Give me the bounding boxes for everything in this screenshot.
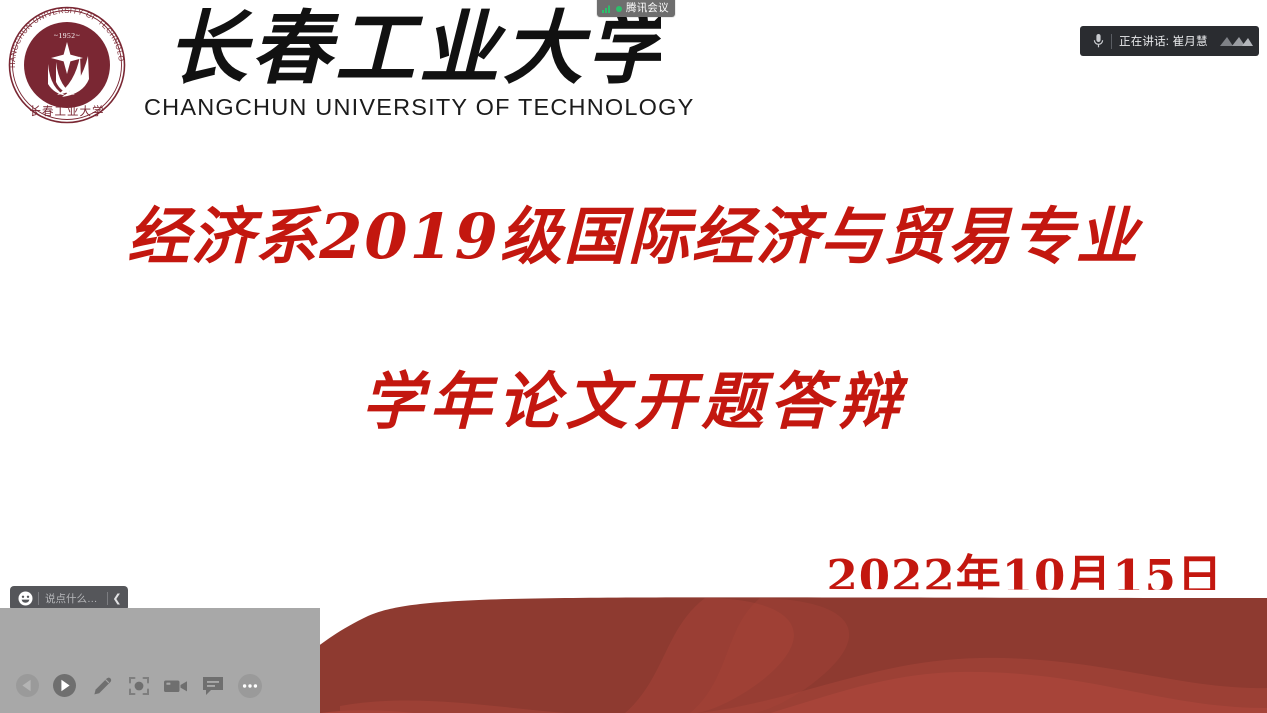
- presenter-toolbar: [0, 608, 320, 713]
- slide-title-line-1: 经济系2019级国际经济与贸易专业: [0, 200, 1267, 273]
- university-name-cn-calligraphy: 长春工业大学: [177, 6, 661, 98]
- audio-waveform-icon: [1219, 34, 1253, 49]
- meeting-app-badge[interactable]: 腾讯会议: [597, 0, 675, 17]
- slide-title-block: 经济系2019级国际经济与贸易专业 学年论文开题答辩: [0, 200, 1267, 438]
- online-status-dot-icon: [616, 6, 622, 12]
- next-slide-button[interactable]: [51, 672, 78, 699]
- svg-text:~1952~: ~1952~: [54, 31, 80, 40]
- chevron-left-circle-icon: [15, 673, 40, 698]
- pen-icon: [90, 674, 114, 698]
- more-options-button[interactable]: [236, 672, 263, 699]
- screen-root: CHANGCHUN UNIVERSITY OF TECHNOLOGY ~1952…: [0, 0, 1267, 713]
- slide-title-line-2: 学年论文开题答辩: [0, 365, 1267, 438]
- chat-button[interactable]: [199, 672, 226, 699]
- presenter-toolbar-icons: [14, 672, 263, 699]
- spotlight-focus-icon: [127, 674, 151, 698]
- active-speaker-indicator[interactable]: 正在讲话: 崔月慧: [1080, 26, 1259, 56]
- video-camera-icon: [163, 676, 189, 696]
- microphone-icon: [1086, 33, 1110, 49]
- camera-button[interactable]: [162, 672, 189, 699]
- chat-bubble-icon: [201, 675, 225, 697]
- pill-divider: [1111, 34, 1112, 49]
- university-name-en: CHANGCHUN UNIVERSITY OF TECHNOLOGY: [144, 94, 694, 121]
- annotate-button[interactable]: [88, 672, 115, 699]
- svg-text:长春工业大学: 长春工业大学: [30, 104, 105, 118]
- university-crest-icon: CHANGCHUN UNIVERSITY OF TECHNOLOGY ~1952…: [4, 2, 130, 128]
- previous-slide-button[interactable]: [14, 672, 41, 699]
- active-speaker-label: 正在讲话: 崔月慧: [1119, 33, 1215, 49]
- ellipsis-circle-icon: [237, 673, 263, 699]
- meeting-app-badge-label: 腾讯会议: [626, 3, 669, 14]
- university-branding: CHANGCHUN UNIVERSITY OF TECHNOLOGY ~1952…: [4, 2, 694, 128]
- chevron-right-circle-icon: [52, 673, 77, 698]
- signal-bars-icon: [602, 4, 612, 13]
- laser-pointer-button[interactable]: [125, 672, 152, 699]
- university-wordmark: 长春工业大学 CHANGCHUN UNIVERSITY OF TECHNOLOG…: [144, 6, 694, 121]
- shared-slide-canvas: CHANGCHUN UNIVERSITY OF TECHNOLOGY ~1952…: [0, 0, 1267, 713]
- university-name-cn-text: 长春工业大学: [177, 6, 661, 95]
